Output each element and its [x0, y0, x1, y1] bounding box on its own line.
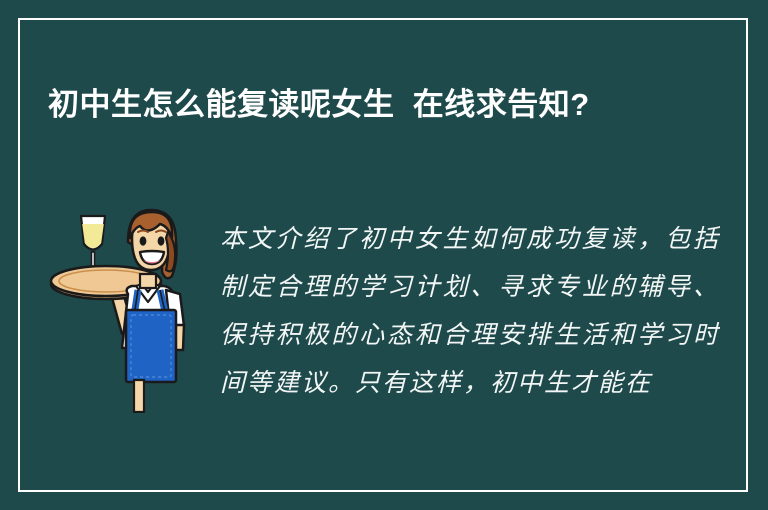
article-content: 本文介绍了初中女生如何成功复读，包括制定合理的学习计划、寻求专业的辅导、保持积极…	[48, 190, 720, 470]
page-title: 初中生怎么能复读呢女生 在线求告知?	[48, 81, 688, 129]
waitress-icon	[48, 198, 198, 413]
article-body-text: 本文介绍了初中女生如何成功复读，包括制定合理的学习计划、寻求专业的辅导、保持积极…	[220, 215, 720, 475]
waitress-illustration	[48, 198, 198, 413]
article-card: 初中生怎么能复读呢女生 在线求告知?	[0, 0, 768, 510]
